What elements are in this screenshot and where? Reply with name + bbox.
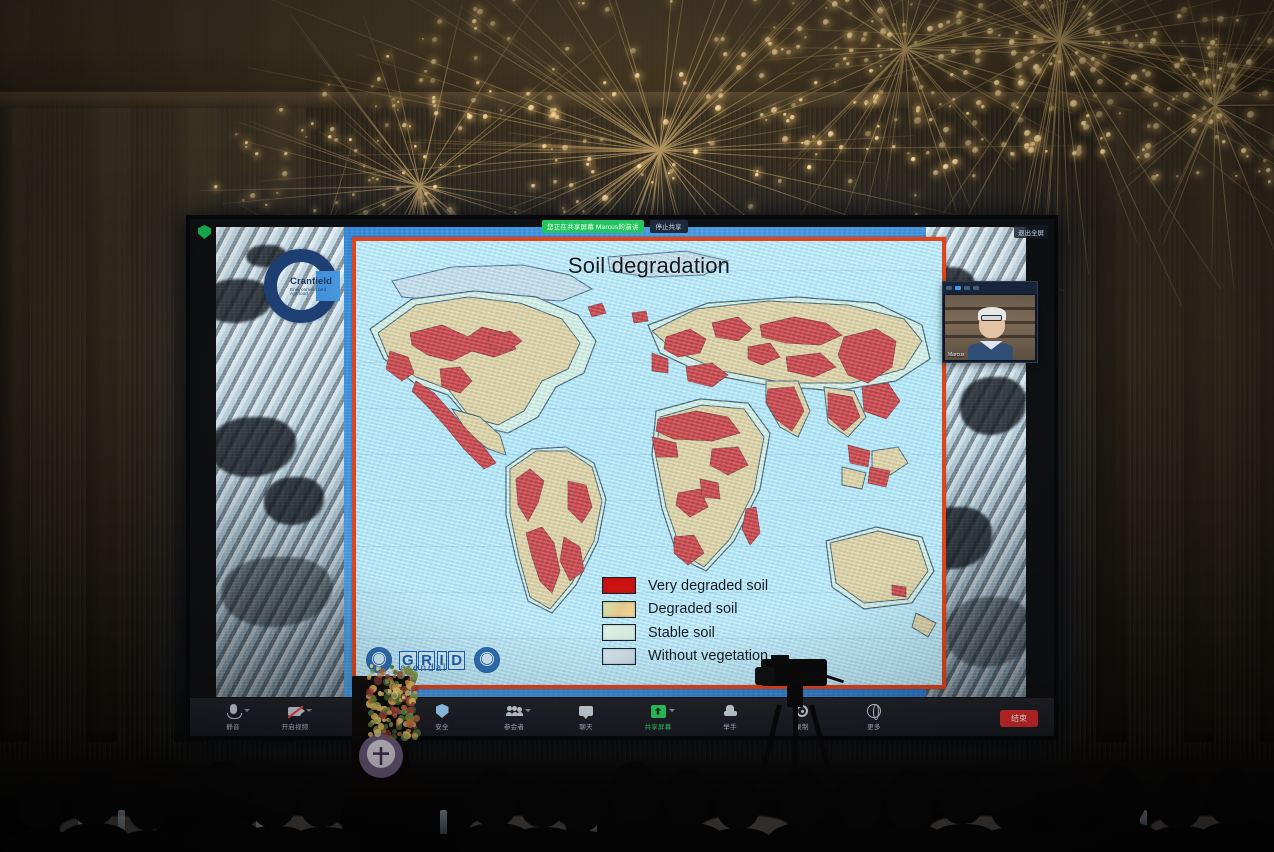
flower — [367, 675, 372, 680]
flower — [402, 696, 405, 699]
audience-head — [610, 762, 660, 822]
flower — [397, 671, 403, 677]
audience-head — [196, 761, 248, 823]
tencent-meeting-window: 您正在共享屏幕 Marcus的演讲 停止共享 退出全屏 — [190, 219, 1054, 736]
map-legend: Very degraded soil Degraded soil Stable … — [602, 577, 768, 671]
audience-head — [716, 775, 760, 829]
flower — [384, 689, 388, 693]
flower — [393, 670, 398, 675]
ceiling-beam — [0, 0, 1274, 96]
flower — [384, 693, 392, 701]
shared-screen-region: 您正在共享屏幕 Marcus的演讲 停止共享 退出全屏 — [190, 219, 1054, 698]
map-title: Soil degradation — [356, 253, 942, 279]
legend-swatch-very-degraded — [602, 577, 636, 594]
audience-head — [128, 780, 168, 830]
legend-swatch-stable — [602, 624, 636, 641]
flower — [390, 665, 394, 669]
audience-head — [250, 773, 296, 827]
pip-video-feed: Marcus — [945, 295, 1035, 360]
exit-fullscreen-button[interactable]: 退出全屏 — [1014, 225, 1048, 238]
pip-control-dot — [973, 286, 979, 290]
audience-head — [18, 777, 60, 829]
flower — [390, 705, 395, 710]
legend-item: Very degraded soil — [602, 577, 768, 594]
legend-item: Stable soil — [602, 624, 768, 641]
sharing-notice-label: 您正在共享屏幕 Marcus的演讲 — [542, 220, 644, 233]
flower — [398, 684, 402, 688]
water-bottle — [440, 810, 447, 834]
audience-silhouettes — [0, 712, 1274, 852]
camera-lens-icon — [755, 667, 775, 685]
legend-swatch-degraded — [602, 601, 636, 618]
audience-head — [778, 768, 826, 826]
grid-letter: D — [448, 651, 465, 670]
legend-label: Very degraded soil — [648, 578, 768, 594]
legend-item: Without vegetation — [602, 648, 768, 665]
legend-swatch-without-vegetation — [602, 648, 636, 665]
cranfield-wordmark: Cranfield Environment and Agrifood — [290, 277, 338, 297]
audience-head — [1098, 767, 1146, 825]
audience-head — [1156, 772, 1202, 828]
pip-glasses-icon — [981, 315, 1002, 321]
flower — [410, 671, 418, 679]
audience-head — [470, 768, 518, 826]
audience-head — [940, 770, 984, 824]
legend-label: Degraded soil — [648, 601, 737, 617]
led-presentation-screen: 您正在共享屏幕 Marcus的演讲 停止共享 退出全屏 — [186, 215, 1058, 740]
powerpoint-slide: Cranfield Environment and Agrifood — [216, 227, 1026, 697]
flower — [393, 694, 397, 698]
audience-shoulders — [288, 827, 360, 852]
audience-head — [838, 774, 882, 828]
flower — [370, 664, 373, 667]
audience-head — [1046, 775, 1090, 829]
security-shield-icon[interactable] — [198, 225, 211, 239]
audience-head — [664, 769, 710, 825]
legend-label: Stable soil — [648, 625, 715, 641]
audience-head — [990, 774, 1036, 830]
flower — [395, 707, 398, 710]
wall-bay — [1200, 72, 1274, 732]
ceiling-beam-trim — [0, 92, 1274, 108]
flower — [413, 691, 417, 695]
camera-viewfinder — [771, 655, 789, 663]
soil-degradation-map: Soil degradation Very degraded soil Degr… — [352, 237, 946, 689]
presenter-video-thumbnail[interactable]: Marcus — [942, 281, 1038, 363]
legend-item: Degraded soil — [602, 601, 768, 618]
stop-share-button[interactable]: 停止共享 — [650, 220, 688, 233]
pip-name-label: Marcus — [948, 352, 964, 358]
audience-head — [70, 769, 116, 825]
tripod-head — [787, 685, 803, 707]
cranfield-name: Cranfield — [290, 276, 332, 287]
pip-control-dot — [946, 286, 952, 290]
legend-label: Without vegetation — [648, 648, 768, 664]
photograph-scene: 您正在共享屏幕 Marcus的演讲 停止共享 退出全屏 — [0, 0, 1274, 852]
audience-head — [300, 775, 344, 827]
flower — [370, 696, 377, 703]
audience-head — [886, 770, 934, 828]
flower — [393, 675, 396, 678]
pip-titlebar — [943, 282, 1037, 294]
flower — [399, 690, 403, 694]
sharing-notice-bar: 您正在共享屏幕 Marcus的演讲 停止共享 — [542, 220, 688, 232]
pip-control-dot — [955, 286, 961, 290]
audience-head — [520, 775, 564, 827]
audience-shoulders — [116, 830, 184, 852]
cranfield-subtitle: Environment and Agrifood — [290, 288, 338, 297]
audience-head — [562, 781, 602, 831]
un-emblem-icon — [474, 647, 500, 673]
cranfield-logo: Cranfield Environment and Agrifood — [264, 249, 338, 323]
pip-control-dot — [964, 286, 970, 290]
